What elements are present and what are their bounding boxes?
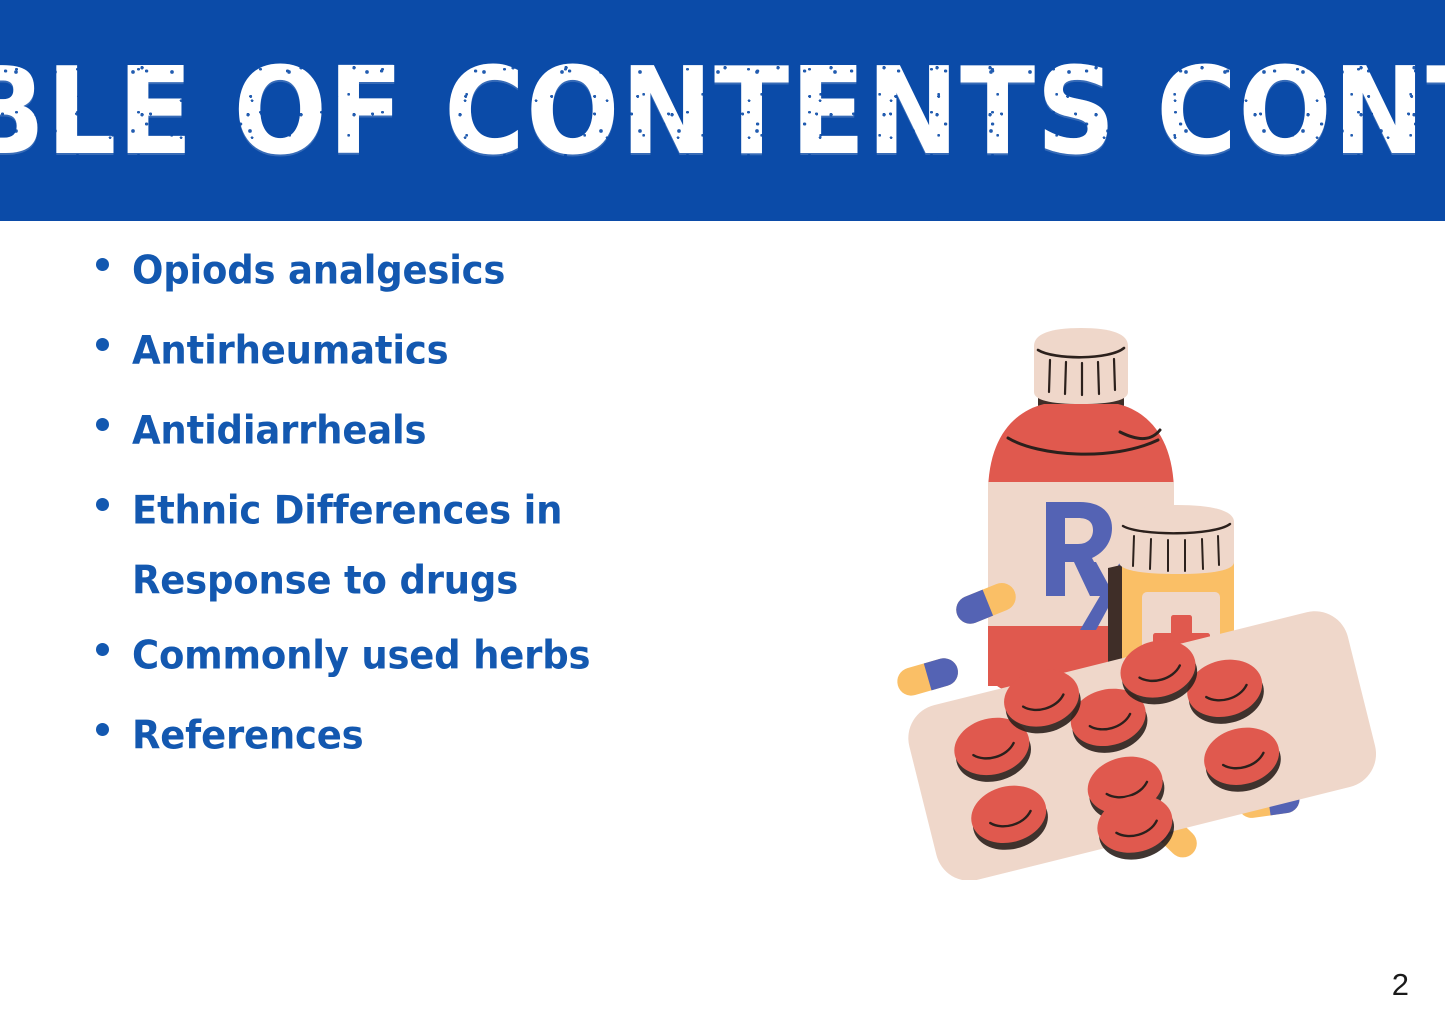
page-title: TABLE OF CONTENTS CONT’D [0, 0, 1445, 239]
table-of-contents-list: Opiods analgesics Antirheumatics Antidia… [96, 236, 736, 781]
title-band: TABLE OF CONTENTS CONT’D [0, 0, 1445, 221]
bullet-dot-icon [96, 418, 109, 431]
page-number: 2 [1392, 969, 1409, 1000]
bottle-cap [1034, 328, 1128, 404]
bullet-dot-icon [96, 723, 109, 736]
list-item[interactable]: Commonly used herbs [96, 621, 736, 687]
capsule [894, 655, 961, 699]
list-item-label: Opiods analgesics [132, 236, 505, 306]
list-item-label: Ethnic Differences in Response to drugs [132, 476, 736, 616]
slide: TABLE OF CONTENTS CONT’D Opiods analgesi… [0, 0, 1445, 1022]
list-item-label: References [132, 701, 364, 771]
bullet-dot-icon [96, 338, 109, 351]
list-item[interactable]: Antidiarrheals [96, 396, 736, 462]
bullet-dot-icon [96, 498, 109, 511]
bullet-dot-icon [96, 258, 109, 271]
list-item-label: Commonly used herbs [132, 621, 590, 691]
bullet-dot-icon [96, 643, 109, 656]
small-bottle-cap [1119, 505, 1234, 574]
list-item[interactable]: Ethnic Differences in Response to drugs [96, 476, 736, 608]
list-item[interactable]: Antirheumatics [96, 316, 736, 382]
list-item[interactable]: References [96, 701, 736, 767]
list-item-label: Antidiarrheals [132, 396, 426, 466]
medicine-illustration-svg [822, 300, 1382, 880]
list-item[interactable]: Opiods analgesics [96, 236, 736, 302]
medicine-illustration [822, 300, 1382, 880]
list-item-label: Antirheumatics [132, 316, 448, 386]
